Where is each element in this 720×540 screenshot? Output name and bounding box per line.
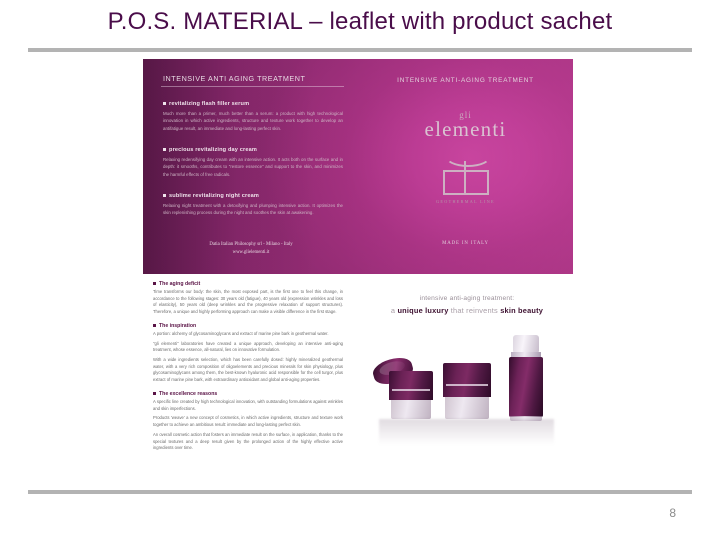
brand-mark-right-leg [487,170,489,195]
product-block-serum-title: revitalizing flash filler serum [163,101,343,107]
brand-logo-subtitle: GEOTHERMAL LINE [358,199,573,204]
brand-mark-left-leg [443,170,445,195]
tagline-line-1: intensive anti-aging treatment: [361,293,573,305]
bullet-square-icon [153,282,156,285]
text-block-inspiration-p3: With a wide ingredients selection, which… [153,357,343,384]
leaflet-top-left-heading: INTENSIVE ANTI AGING TREATMENT [163,74,305,83]
text-block-excellence-reasons-p3: An overall cosmetic action that fosters … [153,432,343,452]
company-name: Datia Italian Philosophy srl - Milano - … [151,241,351,249]
product-block-night-cream-title: sublime revitalizing night cream [163,193,343,199]
product-block-day-cream: precious revitalizing day cream Relaxing… [163,147,343,178]
bullet-square-icon [153,392,156,395]
company-address: Datia Italian Philosophy srl - Milano - … [151,241,351,256]
tagline-mid: that reinvents [449,306,501,315]
bullet-square-icon [163,194,166,197]
product-block-serum: revitalizing flash filler serum Much mor… [163,101,343,132]
tagline-strong-2: skin beauty [500,306,543,315]
brand-mark-icon [437,143,495,195]
text-block-inspiration: The inspiration A portion: alchemy of gl… [153,323,343,384]
text-block-excellence-reasons-title: The excellence reasons [153,391,343,397]
leaflet-top-right-page: INTENSIVE ANTI-AGING TREATMENT gli eleme… [358,59,573,274]
brand-mark-stem [464,161,466,195]
leaflet-top-left-heading-rule [161,86,344,87]
leaflet-top-left-page: INTENSIVE ANTI AGING TREATMENT revitaliz… [151,59,351,274]
product-block-day-cream-title: precious revitalizing day cream [163,147,343,153]
title-divider [28,48,692,52]
product-block-serum-text: Much more than a primer, much better tha… [163,110,343,132]
day-cream-jar-icon [389,371,433,419]
footer-divider [28,490,692,494]
text-block-inspiration-p2: "gli elementi" laboratories have created… [153,341,343,354]
text-block-excellence-reasons-p2: Products 'weave' a new concept of cosmet… [153,415,343,428]
bullet-square-icon [163,148,166,151]
tagline-line-2: a unique luxury that reinvents skin beau… [361,305,573,318]
tagline-strong-1: unique luxury [397,306,448,315]
text-block-excellence-reasons: The excellence reasons A specific line c… [153,391,343,452]
leaflet-top-right-heading: INTENSIVE ANTI-AGING TREATMENT [358,77,573,84]
made-in-italy-label: MADE IN ITALY [358,241,573,246]
tagline: intensive anti-aging treatment: a unique… [361,293,573,317]
brand-mark-bowl [444,141,492,167]
bullet-square-icon [163,102,166,105]
text-block-aging-deficit-p1: Time transforms our body: the skin, the … [153,289,343,316]
page-title: P.O.S. MATERIAL – leaflet with product s… [0,8,720,36]
product-block-night-cream: sublime revitalizing night cream Relaxin… [163,193,343,217]
night-cream-jar-icon [443,363,491,419]
product-block-day-cream-text: Relaxing redensifying day cream with an … [163,156,343,178]
leaflet-top-spread: INTENSIVE ANTI AGING TREATMENT revitaliz… [143,59,573,274]
product-block-night-cream-text: Relaxing night treatment with a detoxify… [163,202,343,217]
company-website: www.glielementi.it [151,249,351,257]
text-block-aging-deficit-title: The aging deficit [153,281,343,287]
text-block-aging-deficit: The aging deficit Time transforms our bo… [153,281,343,316]
text-block-inspiration-p1: A portion: alchemy of glycosaminoglycans… [153,331,343,338]
text-block-excellence-reasons-p1: A specific line created by high technolo… [153,399,343,412]
brand-mark-crossbar [443,170,489,172]
bullet-square-icon [153,324,156,327]
leaflet-bottom-right-page: intensive anti-aging treatment: a unique… [361,279,573,479]
product-reflection [379,419,554,445]
page-number: 8 [669,506,676,520]
leaflet-bottom-left-page: The aging deficit Time transforms our bo… [153,281,343,459]
brand-logo: gli elementi GEOTHERMAL LINE [358,111,573,204]
leaflet-bottom-spread: The aging deficit Time transforms our bo… [143,279,573,479]
brand-mark-base [443,193,489,195]
text-block-inspiration-title: The inspiration [153,323,343,329]
flash-filler-serum-bottle-icon [509,335,543,421]
brand-logo-elementi: elementi [358,119,573,140]
product-lineup-image [369,327,569,447]
